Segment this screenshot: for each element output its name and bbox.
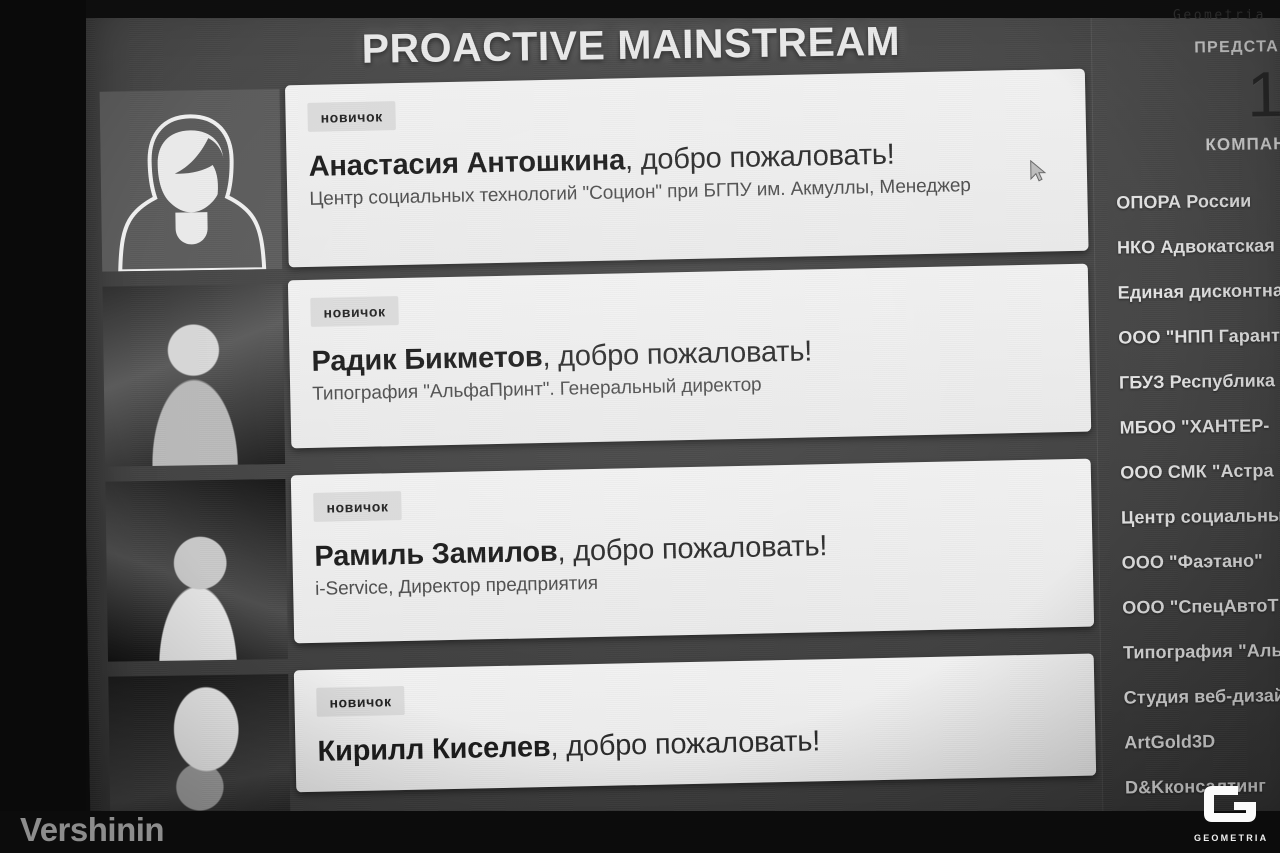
sidebar-header: ПРЕДСТАВИТ 15 КОМПАНИЙ НА — [1091, 0, 1280, 157]
newcomer-card[interactable]: новичок Рамиль Замилов, добро пожаловать… — [291, 459, 1094, 644]
newcomers-feed: новичок Анастасия Антошкина, добро пожал… — [90, 77, 1106, 853]
list-item[interactable]: ArtGold3D — [1124, 729, 1280, 753]
frame-top-edge — [0, 0, 1280, 18]
frame-left-edge — [0, 0, 86, 853]
newcomer-card[interactable]: новичок Радик Бикметов, добро пожаловать… — [288, 264, 1091, 449]
watermark-top-right: Geometria — [1173, 8, 1266, 23]
newcomer-name: Анастасия Антошкина — [308, 144, 625, 183]
company-count: 15 — [1092, 64, 1280, 128]
company-list: ОПОРА России НКО Адвокатская Единая диск… — [1094, 189, 1280, 839]
newcomer-greeting: , добро пожаловать! — [542, 335, 812, 373]
avatar[interactable] — [100, 89, 283, 272]
newcomer-name: Радик Бикметов — [311, 341, 542, 378]
geometria-logo-text: GEOMETRIA — [1194, 833, 1266, 843]
list-item[interactable]: Типография "Аль — [1123, 639, 1280, 663]
status-badge: новичок — [316, 686, 405, 717]
status-badge: новичок — [310, 296, 399, 327]
list-item[interactable]: ГБУЗ Республика — [1119, 369, 1280, 393]
newcomer-card[interactable]: новичок Анастасия Антошкина, добро пожал… — [285, 69, 1089, 268]
watermark-photographer: Vershinin — [20, 811, 164, 849]
newcomer-title: Кирилл Киселев, добро пожаловать! — [317, 720, 1074, 769]
newcomer-name: Кирилл Киселев — [317, 731, 551, 768]
status-badge: новичок — [313, 491, 402, 522]
feed-row[interactable]: новичок Анастасия Антошкина, добро пожал… — [90, 77, 1098, 287]
list-item[interactable]: ООО СМК "Астра — [1120, 459, 1280, 483]
page-title: PROACTIVE MAINSTREAM — [311, 17, 952, 73]
geometria-g-icon — [1200, 782, 1260, 826]
projection-screen: PROACTIVE MAINSTREAM новичо — [78, 0, 1280, 853]
newcomer-greeting: , добро пожаловать! — [625, 139, 895, 177]
list-item[interactable]: Единая дисконтна — [1118, 279, 1280, 303]
list-item[interactable]: МБОО "ХАНТЕР- — [1120, 414, 1280, 438]
projected-screen-photo: PROACTIVE MAINSTREAM новичо — [0, 0, 1280, 853]
mouse-cursor-icon — [1029, 160, 1047, 184]
status-badge: новичок — [307, 101, 396, 132]
newcomer-greeting: , добро пожаловать! — [557, 530, 827, 568]
newcomer-greeting: , добро пожаловать! — [550, 725, 820, 763]
list-item[interactable]: НКО Адвокатская — [1117, 234, 1280, 258]
frame-bottom-edge — [0, 811, 1280, 853]
dashboard-app: PROACTIVE MAINSTREAM новичо — [78, 0, 1280, 853]
list-item[interactable]: ООО "НПП Гарант — [1118, 324, 1280, 348]
geometria-logo: GEOMETRIA — [1194, 782, 1266, 843]
list-item[interactable]: Центр социальны — [1121, 504, 1280, 528]
feed-row[interactable]: новичок Радик Бикметов, добро пожаловать… — [92, 272, 1100, 482]
list-item[interactable]: ОПОРА России — [1116, 189, 1280, 213]
avatar[interactable] — [102, 284, 285, 467]
placeholder-female-avatar-icon — [100, 89, 283, 272]
company-count-caption: КОМПАНИЙ НА — [1093, 133, 1280, 156]
list-item[interactable]: ООО "СпецАвтоТ — [1122, 594, 1280, 618]
newcomer-name: Рамиль Замилов — [314, 536, 558, 573]
list-item[interactable]: Студия веб-дизай — [1124, 684, 1280, 708]
sidebar: ПРЕДСТАВИТ 15 КОМПАНИЙ НА ОПОРА России Н… — [1090, 0, 1280, 839]
newcomer-card[interactable]: новичок Кирилл Киселев, добро пожаловать… — [294, 654, 1096, 793]
feed-row[interactable]: новичок Рамиль Замилов, добро пожаловать… — [95, 467, 1103, 677]
list-item[interactable]: ООО "Фаэтано" — [1122, 549, 1280, 573]
sidebar-header-label: ПРЕДСТАВИТ — [1092, 38, 1280, 59]
avatar[interactable] — [105, 479, 288, 662]
